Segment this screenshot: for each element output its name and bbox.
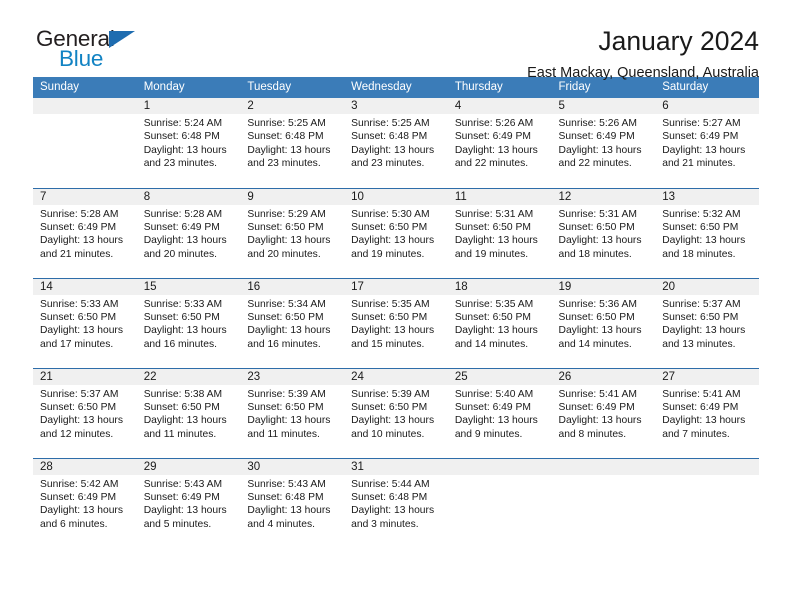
sunset-time: Sunset: 6:50 PM: [351, 311, 443, 324]
day-cell-details: Sunrise: 5:28 AMSunset: 6:49 PMDaylight:…: [137, 205, 241, 262]
day-cell-inner: 15Sunrise: 5:33 AMSunset: 6:50 PMDayligh…: [137, 279, 241, 368]
daylight-duration-line2: and 11 minutes.: [144, 428, 236, 441]
daylight-duration-line2: and 17 minutes.: [40, 338, 132, 351]
calendar-day-cell-empty: [33, 98, 137, 188]
daylight-duration-line2: and 21 minutes.: [40, 248, 132, 261]
logo-triangle-icon: [109, 31, 135, 48]
daylight-duration-line1: Daylight: 13 hours: [40, 504, 132, 517]
day-number: [655, 459, 759, 475]
sunrise-time: Sunrise: 5:37 AM: [40, 388, 132, 401]
calendar-week-row: 14Sunrise: 5:33 AMSunset: 6:50 PMDayligh…: [33, 278, 759, 368]
day-cell-details: Sunrise: 5:36 AMSunset: 6:50 PMDaylight:…: [552, 295, 656, 352]
day-cell-inner: 7Sunrise: 5:28 AMSunset: 6:49 PMDaylight…: [33, 189, 137, 278]
daylight-duration-line2: and 15 minutes.: [351, 338, 443, 351]
day-cell-details: Sunrise: 5:33 AMSunset: 6:50 PMDaylight:…: [137, 295, 241, 352]
daylight-duration-line1: Daylight: 13 hours: [455, 324, 547, 337]
sunset-time: Sunset: 6:48 PM: [247, 130, 339, 143]
sunset-time: Sunset: 6:50 PM: [144, 401, 236, 414]
calendar-day-cell[interactable]: 13Sunrise: 5:32 AMSunset: 6:50 PMDayligh…: [655, 188, 759, 278]
daylight-duration-line2: and 13 minutes.: [662, 338, 754, 351]
day-cell-inner: 25Sunrise: 5:40 AMSunset: 6:49 PMDayligh…: [448, 369, 552, 458]
calendar-day-cell-empty: [448, 458, 552, 548]
daylight-duration-line2: and 5 minutes.: [144, 518, 236, 531]
day-number: 31: [344, 459, 448, 475]
day-cell-details: Sunrise: 5:43 AMSunset: 6:49 PMDaylight:…: [137, 475, 241, 532]
day-cell-inner: 23Sunrise: 5:39 AMSunset: 6:50 PMDayligh…: [240, 369, 344, 458]
day-number: 11: [448, 189, 552, 205]
daylight-duration-line2: and 14 minutes.: [559, 338, 651, 351]
day-cell-details: Sunrise: 5:27 AMSunset: 6:49 PMDaylight:…: [655, 114, 759, 171]
day-cell-details: Sunrise: 5:35 AMSunset: 6:50 PMDaylight:…: [448, 295, 552, 352]
day-cell-inner: 29Sunrise: 5:43 AMSunset: 6:49 PMDayligh…: [137, 459, 241, 549]
daylight-duration-line1: Daylight: 13 hours: [559, 234, 651, 247]
page-title: January 2024: [527, 28, 759, 56]
daylight-duration-line2: and 21 minutes.: [662, 157, 754, 170]
day-cell-details: Sunrise: 5:32 AMSunset: 6:50 PMDaylight:…: [655, 205, 759, 262]
sunrise-time: Sunrise: 5:35 AM: [455, 298, 547, 311]
daylight-duration-line2: and 16 minutes.: [144, 338, 236, 351]
day-cell-details: [552, 475, 656, 478]
sunset-time: Sunset: 6:49 PM: [455, 401, 547, 414]
daylight-duration-line1: Daylight: 13 hours: [144, 324, 236, 337]
sunrise-time: Sunrise: 5:34 AM: [247, 298, 339, 311]
day-cell-details: [448, 475, 552, 478]
day-cell-inner: 10Sunrise: 5:30 AMSunset: 6:50 PMDayligh…: [344, 189, 448, 278]
daylight-duration-line2: and 9 minutes.: [455, 428, 547, 441]
day-cell-inner: [33, 98, 137, 188]
calendar-day-cell[interactable]: 30Sunrise: 5:43 AMSunset: 6:48 PMDayligh…: [240, 458, 344, 548]
day-number: 6: [655, 98, 759, 114]
day-cell-details: [655, 475, 759, 478]
sunset-time: Sunset: 6:50 PM: [40, 401, 132, 414]
sunset-time: Sunset: 6:50 PM: [559, 311, 651, 324]
calendar-day-cell[interactable]: 16Sunrise: 5:34 AMSunset: 6:50 PMDayligh…: [240, 278, 344, 368]
day-cell-inner: 19Sunrise: 5:36 AMSunset: 6:50 PMDayligh…: [552, 279, 656, 368]
daylight-duration-line2: and 22 minutes.: [455, 157, 547, 170]
sunset-time: Sunset: 6:49 PM: [662, 401, 754, 414]
day-cell-details: Sunrise: 5:39 AMSunset: 6:50 PMDaylight:…: [344, 385, 448, 442]
sunrise-time: Sunrise: 5:44 AM: [351, 478, 443, 491]
daylight-duration-line1: Daylight: 13 hours: [351, 234, 443, 247]
day-number: 19: [552, 279, 656, 295]
day-number: [448, 459, 552, 475]
day-number: 22: [137, 369, 241, 385]
calendar-day-cell[interactable]: 17Sunrise: 5:35 AMSunset: 6:50 PMDayligh…: [344, 278, 448, 368]
sunset-time: Sunset: 6:50 PM: [455, 311, 547, 324]
day-number: 3: [344, 98, 448, 114]
sunset-time: Sunset: 6:48 PM: [351, 491, 443, 504]
day-cell-details: Sunrise: 5:28 AMSunset: 6:49 PMDaylight:…: [33, 205, 137, 262]
daylight-duration-line1: Daylight: 13 hours: [351, 144, 443, 157]
day-cell-details: Sunrise: 5:41 AMSunset: 6:49 PMDaylight:…: [655, 385, 759, 442]
day-number: 21: [33, 369, 137, 385]
day-cell-details: Sunrise: 5:43 AMSunset: 6:48 PMDaylight:…: [240, 475, 344, 532]
daylight-duration-line1: Daylight: 13 hours: [455, 414, 547, 427]
sunset-time: Sunset: 6:49 PM: [144, 221, 236, 234]
day-number: 1: [137, 98, 241, 114]
logo-text-blue: Blue: [59, 48, 103, 71]
daylight-duration-line1: Daylight: 13 hours: [662, 324, 754, 337]
day-cell-inner: [448, 459, 552, 549]
sunrise-time: Sunrise: 5:43 AM: [247, 478, 339, 491]
page-header: General Blue January 2024 East Mackay, Q…: [33, 0, 759, 72]
daylight-duration-line1: Daylight: 13 hours: [40, 414, 132, 427]
daylight-duration-line2: and 7 minutes.: [662, 428, 754, 441]
day-cell-inner: 28Sunrise: 5:42 AMSunset: 6:49 PMDayligh…: [33, 459, 137, 549]
sunset-time: Sunset: 6:50 PM: [662, 311, 754, 324]
day-cell-details: Sunrise: 5:35 AMSunset: 6:50 PMDaylight:…: [344, 295, 448, 352]
day-cell-inner: 30Sunrise: 5:43 AMSunset: 6:48 PMDayligh…: [240, 459, 344, 549]
page-subtitle-location: East Mackay, Queensland, Australia: [527, 65, 759, 81]
sunset-time: Sunset: 6:49 PM: [40, 221, 132, 234]
day-number: 8: [137, 189, 241, 205]
sunrise-time: Sunrise: 5:32 AM: [662, 208, 754, 221]
sunrise-time: Sunrise: 5:26 AM: [559, 117, 651, 130]
calendar-day-cell[interactable]: 20Sunrise: 5:37 AMSunset: 6:50 PMDayligh…: [655, 278, 759, 368]
daylight-duration-line1: Daylight: 13 hours: [40, 324, 132, 337]
daylight-duration-line1: Daylight: 13 hours: [351, 414, 443, 427]
calendar-day-cell[interactable]: 31Sunrise: 5:44 AMSunset: 6:48 PMDayligh…: [344, 458, 448, 548]
day-cell-details: Sunrise: 5:34 AMSunset: 6:50 PMDaylight:…: [240, 295, 344, 352]
day-number: 13: [655, 189, 759, 205]
daylight-duration-line1: Daylight: 13 hours: [559, 414, 651, 427]
day-number: 24: [344, 369, 448, 385]
sunset-time: Sunset: 6:50 PM: [144, 311, 236, 324]
sunrise-time: Sunrise: 5:28 AM: [40, 208, 132, 221]
day-cell-details: Sunrise: 5:25 AMSunset: 6:48 PMDaylight:…: [344, 114, 448, 171]
day-cell-details: Sunrise: 5:40 AMSunset: 6:49 PMDaylight:…: [448, 385, 552, 442]
calendar-day-cell[interactable]: 7Sunrise: 5:28 AMSunset: 6:49 PMDaylight…: [33, 188, 137, 278]
day-cell-details: Sunrise: 5:31 AMSunset: 6:50 PMDaylight:…: [552, 205, 656, 262]
calendar-day-cell[interactable]: 27Sunrise: 5:41 AMSunset: 6:49 PMDayligh…: [655, 368, 759, 458]
day-number: 4: [448, 98, 552, 114]
daylight-duration-line2: and 6 minutes.: [40, 518, 132, 531]
day-cell-inner: 27Sunrise: 5:41 AMSunset: 6:49 PMDayligh…: [655, 369, 759, 458]
weekday-header-tuesday: Tuesday: [240, 77, 344, 98]
daylight-duration-line2: and 4 minutes.: [247, 518, 339, 531]
day-cell-inner: 13Sunrise: 5:32 AMSunset: 6:50 PMDayligh…: [655, 189, 759, 278]
day-cell-inner: 2Sunrise: 5:25 AMSunset: 6:48 PMDaylight…: [240, 98, 344, 188]
sunset-time: Sunset: 6:48 PM: [351, 130, 443, 143]
day-cell-inner: 21Sunrise: 5:37 AMSunset: 6:50 PMDayligh…: [33, 369, 137, 458]
calendar-day-cell[interactable]: 28Sunrise: 5:42 AMSunset: 6:49 PMDayligh…: [33, 458, 137, 548]
calendar-week-row: 21Sunrise: 5:37 AMSunset: 6:50 PMDayligh…: [33, 368, 759, 458]
day-cell-details: Sunrise: 5:26 AMSunset: 6:49 PMDaylight:…: [552, 114, 656, 171]
day-number: 30: [240, 459, 344, 475]
sunrise-time: Sunrise: 5:35 AM: [351, 298, 443, 311]
sunrise-time: Sunrise: 5:33 AM: [144, 298, 236, 311]
calendar-day-cell[interactable]: 1Sunrise: 5:24 AMSunset: 6:48 PMDaylight…: [137, 98, 241, 188]
calendar-day-cell[interactable]: 10Sunrise: 5:30 AMSunset: 6:50 PMDayligh…: [344, 188, 448, 278]
day-cell-inner: 18Sunrise: 5:35 AMSunset: 6:50 PMDayligh…: [448, 279, 552, 368]
day-cell-inner: 31Sunrise: 5:44 AMSunset: 6:48 PMDayligh…: [344, 459, 448, 549]
sunset-time: Sunset: 6:50 PM: [455, 221, 547, 234]
daylight-duration-line1: Daylight: 13 hours: [247, 144, 339, 157]
calendar-day-cell-empty: [655, 458, 759, 548]
calendar-day-cell[interactable]: 9Sunrise: 5:29 AMSunset: 6:50 PMDaylight…: [240, 188, 344, 278]
day-number: 10: [344, 189, 448, 205]
sunset-time: Sunset: 6:49 PM: [40, 491, 132, 504]
sunrise-time: Sunrise: 5:43 AM: [144, 478, 236, 491]
day-cell-details: Sunrise: 5:37 AMSunset: 6:50 PMDaylight:…: [655, 295, 759, 352]
sunrise-time: Sunrise: 5:28 AM: [144, 208, 236, 221]
calendar-day-cell[interactable]: 3Sunrise: 5:25 AMSunset: 6:48 PMDaylight…: [344, 98, 448, 188]
sunrise-time: Sunrise: 5:38 AM: [144, 388, 236, 401]
sunrise-time: Sunrise: 5:30 AM: [351, 208, 443, 221]
day-number: 16: [240, 279, 344, 295]
day-number: 5: [552, 98, 656, 114]
weekday-header-sunday: Sunday: [33, 77, 137, 98]
sunrise-time: Sunrise: 5:42 AM: [40, 478, 132, 491]
daylight-duration-line1: Daylight: 13 hours: [144, 414, 236, 427]
calendar-day-cell[interactable]: 25Sunrise: 5:40 AMSunset: 6:49 PMDayligh…: [448, 368, 552, 458]
daylight-duration-line1: Daylight: 13 hours: [662, 144, 754, 157]
daylight-duration-line2: and 23 minutes.: [351, 157, 443, 170]
day-cell-inner: 26Sunrise: 5:41 AMSunset: 6:49 PMDayligh…: [552, 369, 656, 458]
calendar-day-cell[interactable]: 19Sunrise: 5:36 AMSunset: 6:50 PMDayligh…: [552, 278, 656, 368]
day-cell-details: Sunrise: 5:42 AMSunset: 6:49 PMDaylight:…: [33, 475, 137, 532]
daylight-duration-line1: Daylight: 13 hours: [662, 234, 754, 247]
day-cell-details: Sunrise: 5:41 AMSunset: 6:49 PMDaylight:…: [552, 385, 656, 442]
day-cell-inner: 22Sunrise: 5:38 AMSunset: 6:50 PMDayligh…: [137, 369, 241, 458]
day-number: 2: [240, 98, 344, 114]
title-block: January 2024 East Mackay, Queensland, Au…: [527, 28, 759, 81]
day-cell-inner: [655, 459, 759, 549]
day-cell-inner: 16Sunrise: 5:34 AMSunset: 6:50 PMDayligh…: [240, 279, 344, 368]
daylight-duration-line2: and 18 minutes.: [662, 248, 754, 261]
calendar-day-cell[interactable]: 29Sunrise: 5:43 AMSunset: 6:49 PMDayligh…: [137, 458, 241, 548]
day-number: 18: [448, 279, 552, 295]
calendar-day-cell[interactable]: 14Sunrise: 5:33 AMSunset: 6:50 PMDayligh…: [33, 278, 137, 368]
sunset-time: Sunset: 6:50 PM: [247, 311, 339, 324]
sunset-time: Sunset: 6:49 PM: [455, 130, 547, 143]
day-cell-details: Sunrise: 5:37 AMSunset: 6:50 PMDaylight:…: [33, 385, 137, 442]
sunset-time: Sunset: 6:49 PM: [559, 401, 651, 414]
daylight-duration-line1: Daylight: 13 hours: [247, 324, 339, 337]
daylight-duration-line2: and 23 minutes.: [247, 157, 339, 170]
sunrise-time: Sunrise: 5:25 AM: [351, 117, 443, 130]
calendar-table: Sunday Monday Tuesday Wednesday Thursday…: [33, 77, 759, 548]
daylight-duration-line1: Daylight: 13 hours: [351, 324, 443, 337]
daylight-duration-line1: Daylight: 13 hours: [144, 234, 236, 247]
daylight-duration-line1: Daylight: 13 hours: [559, 144, 651, 157]
calendar-day-cell[interactable]: 12Sunrise: 5:31 AMSunset: 6:50 PMDayligh…: [552, 188, 656, 278]
day-number: 25: [448, 369, 552, 385]
day-cell-inner: 3Sunrise: 5:25 AMSunset: 6:48 PMDaylight…: [344, 98, 448, 188]
generalblue-logo: General Blue: [33, 28, 143, 76]
day-number: 17: [344, 279, 448, 295]
day-cell-inner: 12Sunrise: 5:31 AMSunset: 6:50 PMDayligh…: [552, 189, 656, 278]
day-cell-inner: 17Sunrise: 5:35 AMSunset: 6:50 PMDayligh…: [344, 279, 448, 368]
day-cell-details: Sunrise: 5:25 AMSunset: 6:48 PMDaylight:…: [240, 114, 344, 171]
day-number: 20: [655, 279, 759, 295]
daylight-duration-line1: Daylight: 13 hours: [559, 324, 651, 337]
daylight-duration-line2: and 16 minutes.: [247, 338, 339, 351]
calendar-day-cell[interactable]: 2Sunrise: 5:25 AMSunset: 6:48 PMDaylight…: [240, 98, 344, 188]
day-number: 15: [137, 279, 241, 295]
day-number: 23: [240, 369, 344, 385]
daylight-duration-line2: and 19 minutes.: [455, 248, 547, 261]
calendar-day-cell[interactable]: 22Sunrise: 5:38 AMSunset: 6:50 PMDayligh…: [137, 368, 241, 458]
daylight-duration-line1: Daylight: 13 hours: [455, 234, 547, 247]
day-cell-details: Sunrise: 5:44 AMSunset: 6:48 PMDaylight:…: [344, 475, 448, 532]
sunset-time: Sunset: 6:48 PM: [144, 130, 236, 143]
day-cell-inner: 1Sunrise: 5:24 AMSunset: 6:48 PMDaylight…: [137, 98, 241, 188]
sunrise-time: Sunrise: 5:26 AM: [455, 117, 547, 130]
daylight-duration-line1: Daylight: 13 hours: [351, 504, 443, 517]
sunset-time: Sunset: 6:50 PM: [662, 221, 754, 234]
calendar-week-row: 7Sunrise: 5:28 AMSunset: 6:49 PMDaylight…: [33, 188, 759, 278]
calendar-day-cell[interactable]: 18Sunrise: 5:35 AMSunset: 6:50 PMDayligh…: [448, 278, 552, 368]
sunrise-time: Sunrise: 5:27 AM: [662, 117, 754, 130]
daylight-duration-line2: and 12 minutes.: [40, 428, 132, 441]
day-cell-details: Sunrise: 5:30 AMSunset: 6:50 PMDaylight:…: [344, 205, 448, 262]
calendar-day-cell[interactable]: 6Sunrise: 5:27 AMSunset: 6:49 PMDaylight…: [655, 98, 759, 188]
day-cell-details: Sunrise: 5:31 AMSunset: 6:50 PMDaylight:…: [448, 205, 552, 262]
daylight-duration-line2: and 23 minutes.: [144, 157, 236, 170]
day-cell-details: Sunrise: 5:39 AMSunset: 6:50 PMDaylight:…: [240, 385, 344, 442]
daylight-duration-line2: and 11 minutes.: [247, 428, 339, 441]
calendar-day-cell[interactable]: 21Sunrise: 5:37 AMSunset: 6:50 PMDayligh…: [33, 368, 137, 458]
daylight-duration-line1: Daylight: 13 hours: [455, 144, 547, 157]
sunrise-time: Sunrise: 5:39 AM: [247, 388, 339, 401]
sunrise-time: Sunrise: 5:24 AM: [144, 117, 236, 130]
daylight-duration-line1: Daylight: 13 hours: [247, 414, 339, 427]
daylight-duration-line2: and 18 minutes.: [559, 248, 651, 261]
day-number: 12: [552, 189, 656, 205]
sunset-time: Sunset: 6:50 PM: [247, 401, 339, 414]
daylight-duration-line2: and 19 minutes.: [351, 248, 443, 261]
daylight-duration-line1: Daylight: 13 hours: [144, 504, 236, 517]
daylight-duration-line1: Daylight: 13 hours: [662, 414, 754, 427]
daylight-duration-line2: and 20 minutes.: [247, 248, 339, 261]
sunrise-time: Sunrise: 5:41 AM: [559, 388, 651, 401]
day-cell-inner: 14Sunrise: 5:33 AMSunset: 6:50 PMDayligh…: [33, 279, 137, 368]
sunset-time: Sunset: 6:49 PM: [559, 130, 651, 143]
sunrise-time: Sunrise: 5:40 AM: [455, 388, 547, 401]
day-cell-inner: 5Sunrise: 5:26 AMSunset: 6:49 PMDaylight…: [552, 98, 656, 188]
daylight-duration-line1: Daylight: 13 hours: [40, 234, 132, 247]
daylight-duration-line2: and 22 minutes.: [559, 157, 651, 170]
calendar-day-cell[interactable]: 11Sunrise: 5:31 AMSunset: 6:50 PMDayligh…: [448, 188, 552, 278]
sunset-time: Sunset: 6:50 PM: [351, 221, 443, 234]
sunset-time: Sunset: 6:50 PM: [40, 311, 132, 324]
sunrise-time: Sunrise: 5:33 AM: [40, 298, 132, 311]
day-cell-details: Sunrise: 5:24 AMSunset: 6:48 PMDaylight:…: [137, 114, 241, 171]
day-cell-inner: 24Sunrise: 5:39 AMSunset: 6:50 PMDayligh…: [344, 369, 448, 458]
day-cell-details: Sunrise: 5:26 AMSunset: 6:49 PMDaylight:…: [448, 114, 552, 171]
day-number: 29: [137, 459, 241, 475]
sunset-time: Sunset: 6:48 PM: [247, 491, 339, 504]
day-number: [33, 98, 137, 114]
calendar-day-cell[interactable]: 23Sunrise: 5:39 AMSunset: 6:50 PMDayligh…: [240, 368, 344, 458]
calendar-day-cell[interactable]: 5Sunrise: 5:26 AMSunset: 6:49 PMDaylight…: [552, 98, 656, 188]
sunset-time: Sunset: 6:49 PM: [144, 491, 236, 504]
daylight-duration-line2: and 10 minutes.: [351, 428, 443, 441]
day-cell-inner: 8Sunrise: 5:28 AMSunset: 6:49 PMDaylight…: [137, 189, 241, 278]
weekday-header-monday: Monday: [137, 77, 241, 98]
day-number: 28: [33, 459, 137, 475]
weekday-header-wednesday: Wednesday: [344, 77, 448, 98]
day-cell-details: Sunrise: 5:38 AMSunset: 6:50 PMDaylight:…: [137, 385, 241, 442]
calendar-page: General Blue January 2024 East Mackay, Q…: [0, 0, 792, 612]
day-number: 9: [240, 189, 344, 205]
sunrise-time: Sunrise: 5:25 AM: [247, 117, 339, 130]
sunrise-time: Sunrise: 5:39 AM: [351, 388, 443, 401]
sunset-time: Sunset: 6:49 PM: [662, 130, 754, 143]
daylight-duration-line1: Daylight: 13 hours: [247, 504, 339, 517]
daylight-duration-line1: Daylight: 13 hours: [247, 234, 339, 247]
sunrise-time: Sunrise: 5:31 AM: [455, 208, 547, 221]
calendar-week-row: 28Sunrise: 5:42 AMSunset: 6:49 PMDayligh…: [33, 458, 759, 548]
day-cell-details: Sunrise: 5:33 AMSunset: 6:50 PMDaylight:…: [33, 295, 137, 352]
sunset-time: Sunset: 6:50 PM: [559, 221, 651, 234]
sunrise-time: Sunrise: 5:36 AM: [559, 298, 651, 311]
day-number: 14: [33, 279, 137, 295]
calendar-day-cell[interactable]: 24Sunrise: 5:39 AMSunset: 6:50 PMDayligh…: [344, 368, 448, 458]
sunrise-time: Sunrise: 5:37 AM: [662, 298, 754, 311]
day-cell-details: [33, 114, 137, 117]
sunset-time: Sunset: 6:50 PM: [247, 221, 339, 234]
sunrise-time: Sunrise: 5:31 AM: [559, 208, 651, 221]
day-cell-inner: [552, 459, 656, 549]
day-number: 27: [655, 369, 759, 385]
calendar-week-row: 1Sunrise: 5:24 AMSunset: 6:48 PMDaylight…: [33, 98, 759, 188]
daylight-duration-line2: and 20 minutes.: [144, 248, 236, 261]
sunrise-time: Sunrise: 5:41 AM: [662, 388, 754, 401]
day-cell-inner: 11Sunrise: 5:31 AMSunset: 6:50 PMDayligh…: [448, 189, 552, 278]
day-cell-inner: 20Sunrise: 5:37 AMSunset: 6:50 PMDayligh…: [655, 279, 759, 368]
sunset-time: Sunset: 6:50 PM: [351, 401, 443, 414]
daylight-duration-line2: and 8 minutes.: [559, 428, 651, 441]
calendar-body: 1Sunrise: 5:24 AMSunset: 6:48 PMDaylight…: [33, 98, 759, 548]
day-cell-inner: 4Sunrise: 5:26 AMSunset: 6:49 PMDaylight…: [448, 98, 552, 188]
day-cell-details: Sunrise: 5:29 AMSunset: 6:50 PMDaylight:…: [240, 205, 344, 262]
day-cell-inner: 9Sunrise: 5:29 AMSunset: 6:50 PMDaylight…: [240, 189, 344, 278]
day-number: 7: [33, 189, 137, 205]
day-cell-inner: 6Sunrise: 5:27 AMSunset: 6:49 PMDaylight…: [655, 98, 759, 188]
day-number: [552, 459, 656, 475]
day-number: 26: [552, 369, 656, 385]
calendar-day-cell-empty: [552, 458, 656, 548]
calendar-day-cell[interactable]: 4Sunrise: 5:26 AMSunset: 6:49 PMDaylight…: [448, 98, 552, 188]
calendar-day-cell[interactable]: 26Sunrise: 5:41 AMSunset: 6:49 PMDayligh…: [552, 368, 656, 458]
sunrise-time: Sunrise: 5:29 AM: [247, 208, 339, 221]
daylight-duration-line1: Daylight: 13 hours: [144, 144, 236, 157]
calendar-day-cell[interactable]: 15Sunrise: 5:33 AMSunset: 6:50 PMDayligh…: [137, 278, 241, 368]
calendar-day-cell[interactable]: 8Sunrise: 5:28 AMSunset: 6:49 PMDaylight…: [137, 188, 241, 278]
daylight-duration-line2: and 14 minutes.: [455, 338, 547, 351]
daylight-duration-line2: and 3 minutes.: [351, 518, 443, 531]
